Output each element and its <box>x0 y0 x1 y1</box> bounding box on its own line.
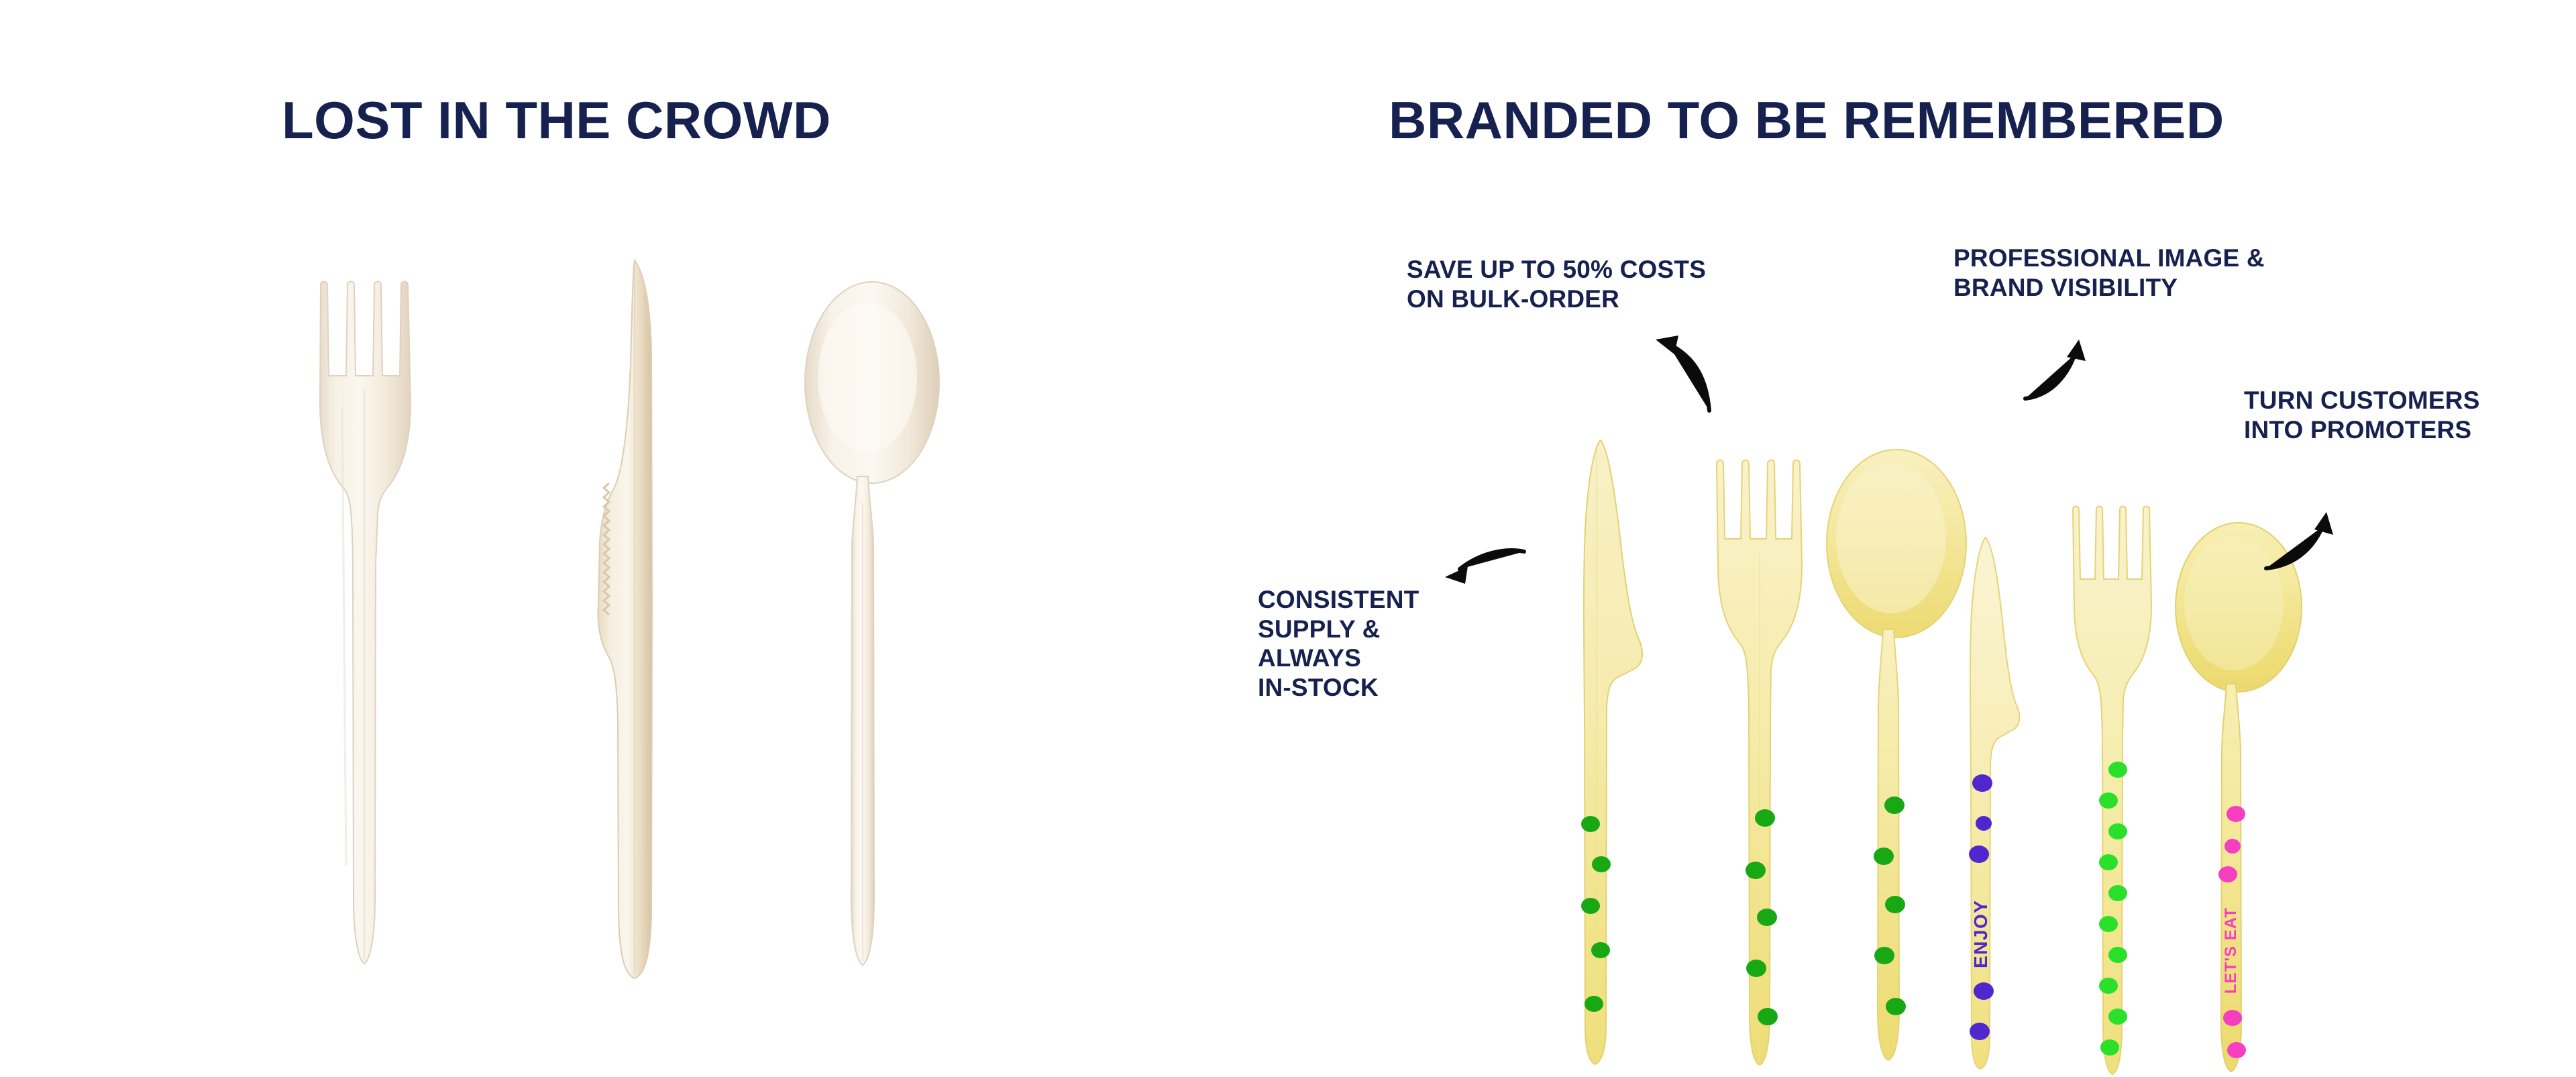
arrow-turn-customers-icon <box>2261 480 2408 587</box>
arrow-bulk-order-icon <box>1637 315 1811 436</box>
branded-spoon-pink: LET'S EAT <box>2170 520 2311 1077</box>
plain-fork <box>302 275 449 973</box>
callout-consistent-supply: CONSISTENT SUPPLY & ALWAYS IN-STOCK <box>1258 585 1419 703</box>
callout-brand-visibility: PROFESSIONAL IMAGE & BRAND VISIBILITY <box>1953 244 2265 302</box>
arrow-consistent-supply-icon <box>1436 530 1610 637</box>
plain-knife <box>570 255 698 986</box>
page-title-left: LOST IN THE CROWD <box>282 94 831 146</box>
branding-text-lets-eat: LET'S EAT <box>2222 907 2240 994</box>
arrow-brand-visibility-icon <box>2002 329 2137 436</box>
branded-fork-green <box>1694 453 1828 1067</box>
branding-text-enjoy: ENJOY <box>1970 900 1991 968</box>
callout-bulk-order: SAVE UP TO 50% COSTS ON BULK-ORDER <box>1407 255 1706 313</box>
plain-cutlery-group <box>288 255 959 1047</box>
branded-knife-enjoy: ENJOY <box>1952 533 2053 1070</box>
page-title-right: BRANDED TO BE REMEMBERED <box>1389 94 2224 146</box>
poster-canvas: LOST IN THE CROWD BRANDED TO BE REMEMBER… <box>0 0 2576 1074</box>
branded-cutlery-group: ENJOY <box>1543 416 2381 1074</box>
branded-fork-neon <box>2053 500 2180 1077</box>
plain-spoon <box>798 275 946 973</box>
callout-turn-customers: TURN CUSTOMERS INTO PROMOTERS <box>2244 386 2480 444</box>
